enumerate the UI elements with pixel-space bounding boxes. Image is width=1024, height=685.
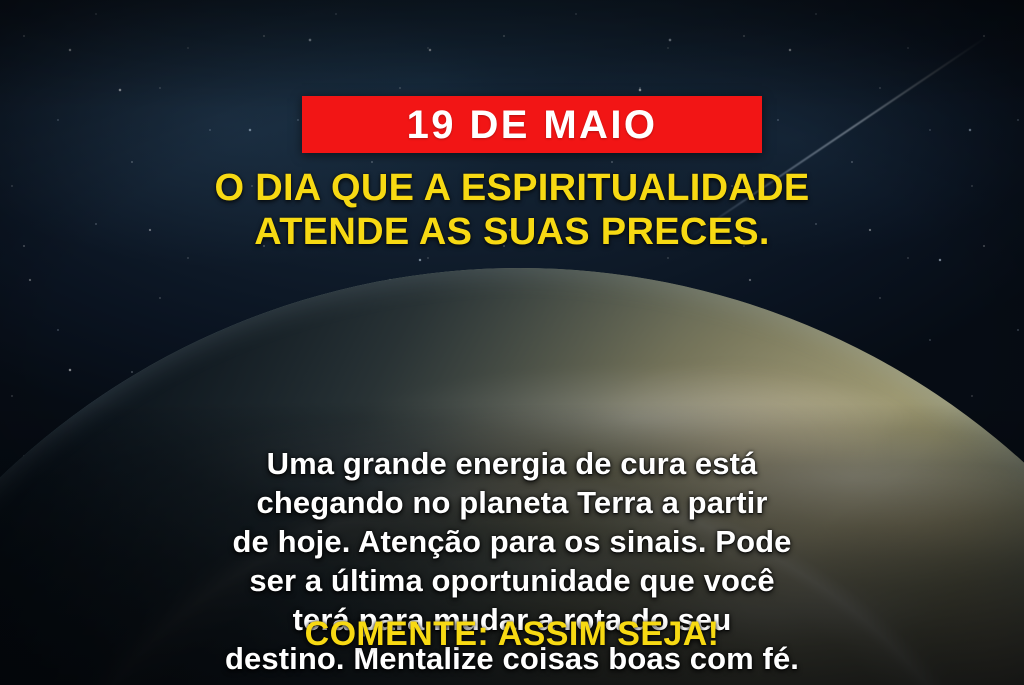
call-to-action-text: COMENTE: ASSIM SEJA! (0, 616, 1024, 653)
headline: O DIA QUE A ESPIRITUALIDADE ATENDE AS SU… (0, 166, 1024, 254)
body-line-4: ser a última oportunidade que você (46, 561, 978, 600)
headline-line-2: ATENDE AS SUAS PRECES. (36, 210, 988, 254)
poster-content: 19 DE MAIO O DIA QUE A ESPIRITUALIDADE A… (0, 0, 1024, 685)
date-banner: 19 DE MAIO (302, 96, 762, 153)
body-line-3: de hoje. Atenção para os sinais. Pode (46, 522, 978, 561)
headline-line-1: O DIA QUE A ESPIRITUALIDADE (36, 166, 988, 210)
body-line-2: chegando no planeta Terra a partir (46, 483, 978, 522)
body-line-1: Uma grande energia de cura está (46, 444, 978, 483)
date-banner-text: 19 DE MAIO (407, 105, 658, 145)
poster-canvas: 19 DE MAIO O DIA QUE A ESPIRITUALIDADE A… (0, 0, 1024, 685)
